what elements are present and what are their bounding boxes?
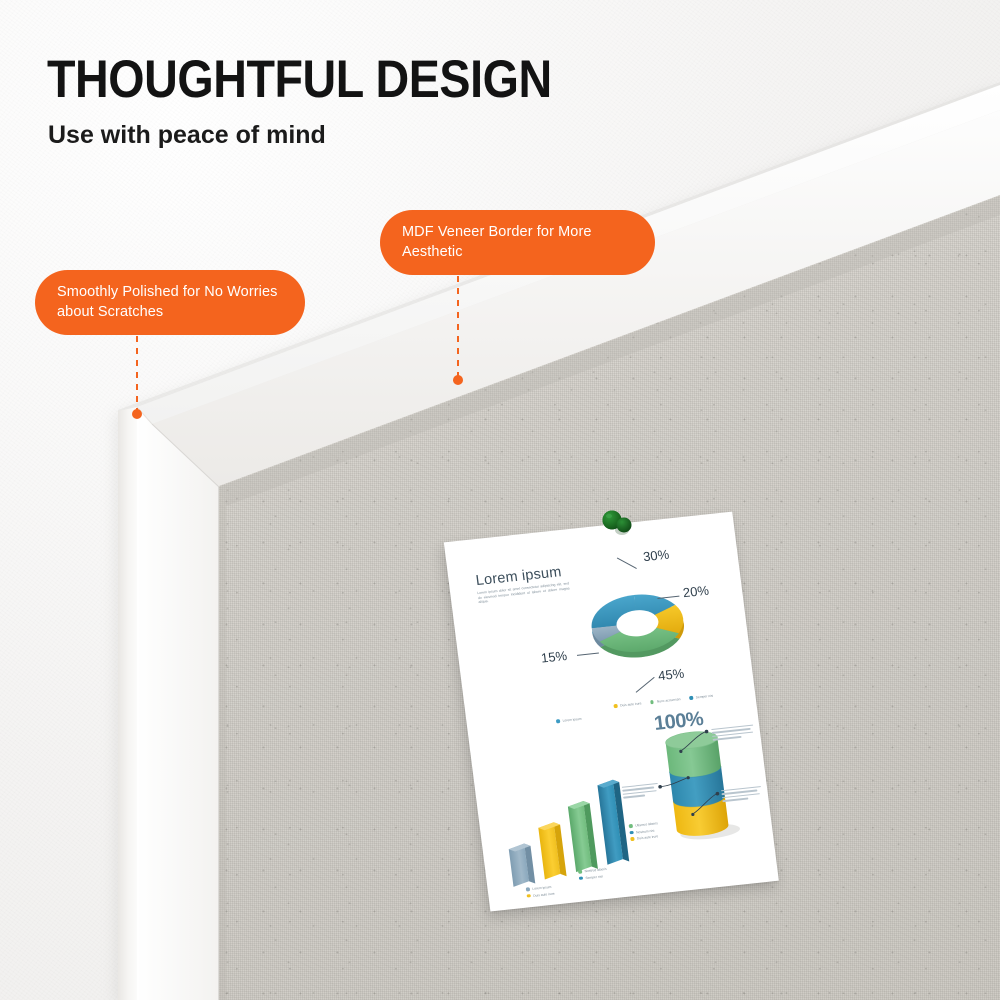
page-title: THOUGHTFUL DESIGN (47, 52, 552, 108)
frame-left-bevel (118, 407, 137, 1000)
donut-label-30: 30% (642, 547, 670, 565)
bar-2 (538, 822, 567, 880)
callout-leader-mdf (457, 264, 459, 380)
donut-leader-30 (617, 558, 637, 569)
product-marketing-image: Lorem ipsum Lorem ipsum dolor sit amet c… (0, 0, 1000, 1000)
leader-dashed-line (457, 264, 459, 380)
legend-item: Lorem ipsum (556, 717, 582, 724)
bar-1 (508, 843, 535, 887)
push-pin-icon (600, 508, 636, 538)
cylinder-note-bottom (721, 786, 763, 804)
cylinder-note-top (711, 725, 755, 743)
bar-3 (567, 800, 598, 872)
page-subtitle: Use with peace of mind (48, 120, 326, 150)
donut-label-15: 15% (540, 648, 568, 666)
leader-endpoint-dot (453, 375, 463, 385)
legend-item: Semper nisi (689, 694, 713, 701)
bar-legend-group-a: Lorem ipsum Duis aute irure (526, 885, 555, 898)
legend-item: Duis aute irure (527, 891, 555, 898)
leader-endpoint-dot (132, 409, 142, 419)
callout-leader-polished (136, 324, 138, 414)
donut-label-20: 20% (682, 583, 710, 601)
infographic-poster: Lorem ipsum Lorem ipsum dolor sit amet c… (444, 512, 779, 912)
legend-item: Duis aute irure (613, 701, 641, 708)
callout-mdf-veneer-border: MDF Veneer Border for More Aesthetic (380, 210, 655, 275)
donut-label-45: 45% (657, 666, 685, 684)
bar-chart (497, 769, 650, 889)
legend-item: Nunc accumsan (650, 697, 680, 704)
bar-4 (597, 779, 629, 865)
frame-left-face (137, 407, 219, 1000)
donut-legend-group-b: Duis aute irure Nunc accumsan Semper nis… (613, 694, 713, 709)
callout-smoothly-polished: Smoothly Polished for No Worries about S… (35, 270, 305, 335)
leader-dashed-line (136, 324, 138, 414)
donut-legend-group-a: Lorem ipsum (556, 717, 582, 724)
